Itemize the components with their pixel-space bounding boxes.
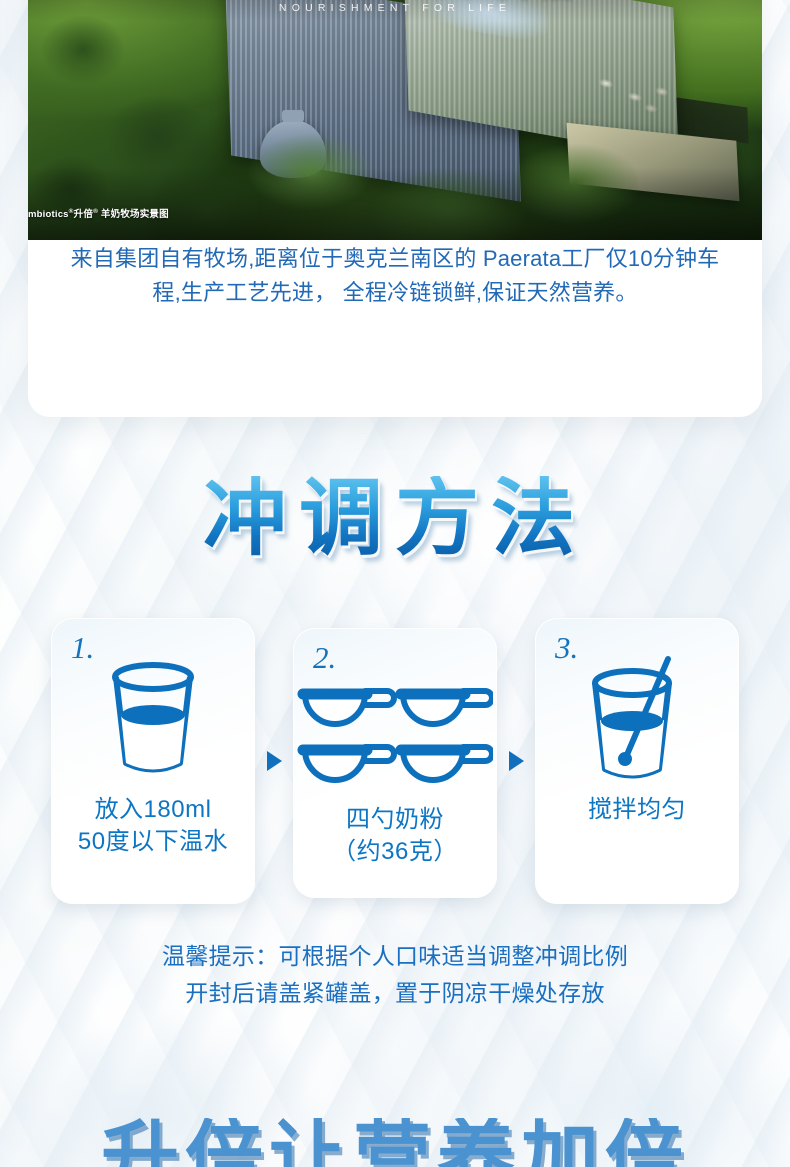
photo-vignette xyxy=(28,0,762,240)
step-number-1: 1. xyxy=(71,632,94,663)
step-arrow-1 xyxy=(255,618,293,904)
bottom-headline: 升倍让营养加倍 xyxy=(0,1118,790,1167)
hero-card: SYMBIOTICS 升倍 NOURISHMENT FOR LIFE mbiot… xyxy=(28,0,762,417)
step-card-2[interactable]: 2. xyxy=(293,628,497,898)
step-arrow-2 xyxy=(497,618,535,904)
step-label-3-line1: 搅拌均匀 xyxy=(588,796,686,823)
photo-caption-mid: 升倍 xyxy=(74,209,93,220)
logo-tagline: NOURISHMENT FOR LIFE xyxy=(28,2,762,14)
triangle-right-icon xyxy=(509,751,524,771)
step-label-1-line2: 50度以下温水 xyxy=(78,828,228,855)
photo-caption: mbiotics®升倍® 羊奶牧场实景图 xyxy=(28,206,169,220)
stir-glass-icon xyxy=(535,644,739,794)
triangle-right-icon xyxy=(267,751,282,771)
water-glass-icon xyxy=(51,644,255,794)
photo-caption-pre: mbiotics xyxy=(28,209,69,220)
step-label-2-line1: 四勺奶粉 xyxy=(346,806,444,833)
step-label-2-line2: （约36克） xyxy=(332,838,458,865)
farm-photo: SYMBIOTICS 升倍 NOURISHMENT FOR LIFE mbiot… xyxy=(28,0,762,240)
step-label-3: 搅拌均匀 xyxy=(535,794,739,826)
step-label-1-line1: 放入180ml xyxy=(95,796,212,823)
step-card-3[interactable]: 3. 搅拌均匀 xyxy=(535,618,739,904)
photo-caption-post: 羊奶牧场实景图 xyxy=(98,209,169,220)
step-number-3: 3. xyxy=(555,632,578,663)
steps-row: 1. 放入180ml 50度以下温水 2. xyxy=(0,618,790,904)
step-label-1: 放入180ml 50度以下温水 xyxy=(51,794,255,859)
hero-paragraph: 来自集团自有牧场,距离位于奥克兰南区的 Paerata工厂仅10分钟车程,生产工… xyxy=(28,242,762,310)
tip-line-2: 开封后请盖紧罐盖，置于阴凉干燥处存放 xyxy=(0,975,790,1012)
four-scoops-icon xyxy=(293,654,497,804)
tip-line-1: 温馨提示：可根据个人口味适当调整冲调比例 xyxy=(0,938,790,975)
step-card-1[interactable]: 1. 放入180ml 50度以下温水 xyxy=(51,618,255,904)
step-number-2: 2. xyxy=(313,642,336,673)
tips-block: 温馨提示：可根据个人口味适当调整冲调比例 开封后请盖紧罐盖，置于阴凉干燥处存放 xyxy=(0,938,790,1012)
step-label-2: 四勺奶粉 （约36克） xyxy=(293,804,497,869)
page-title: 冲调方法 xyxy=(0,476,790,560)
